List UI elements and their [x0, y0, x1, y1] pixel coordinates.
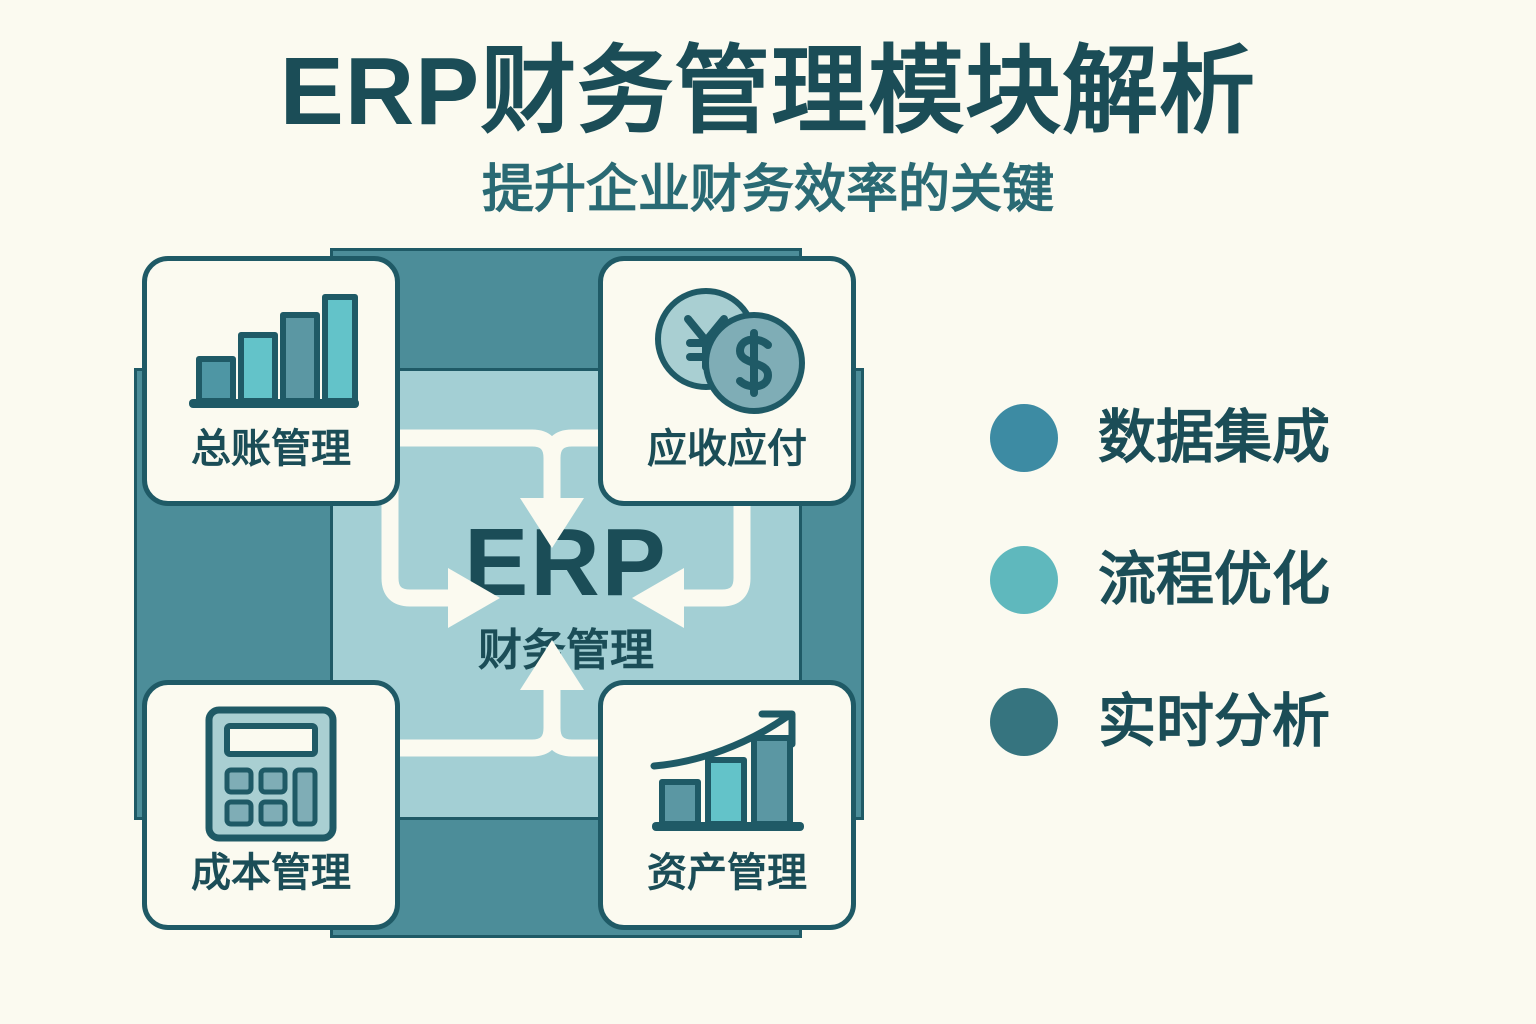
module-label: 资产管理	[647, 853, 807, 893]
benefit-item[interactable]: 流程优化	[990, 532, 1470, 628]
bar-chart-icon	[181, 275, 361, 425]
growth-chart-icon	[640, 699, 815, 849]
benefit-item[interactable]: 数据集成	[990, 390, 1470, 486]
bullet-dot-icon	[990, 404, 1058, 472]
header: ERP财务管理模块解析 提升企业财务效率的关键	[0, 0, 1536, 216]
calculator-icon	[201, 699, 341, 849]
module-card-receivable-payable[interactable]: 应收应付	[598, 256, 856, 506]
benefit-label: 数据集成	[1098, 409, 1330, 467]
module-label: 成本管理	[191, 853, 351, 893]
benefits-list: 数据集成 流程优化 实时分析	[990, 390, 1470, 816]
benefit-label: 实时分析	[1098, 693, 1330, 751]
coins-icon	[642, 275, 812, 425]
page-subtitle: 提升企业财务效率的关键	[0, 164, 1536, 216]
bullet-dot-icon	[990, 546, 1058, 614]
module-label: 总账管理	[191, 429, 351, 469]
module-card-general-ledger[interactable]: 总账管理	[142, 256, 400, 506]
benefit-label: 流程优化	[1098, 551, 1330, 609]
module-label: 应收应付	[647, 429, 807, 469]
bullet-dot-icon	[990, 688, 1058, 756]
page-title: ERP财务管理模块解析	[0, 44, 1536, 140]
module-card-asset-management[interactable]: 资产管理	[598, 680, 856, 930]
infographic-canvas: ERP财务管理模块解析 提升企业财务效率的关键 ERP 财务管理	[0, 0, 1536, 1024]
benefit-item[interactable]: 实时分析	[990, 674, 1470, 770]
erp-module-diagram: ERP 财务管理	[134, 248, 864, 938]
module-card-cost-management[interactable]: 成本管理	[142, 680, 400, 930]
